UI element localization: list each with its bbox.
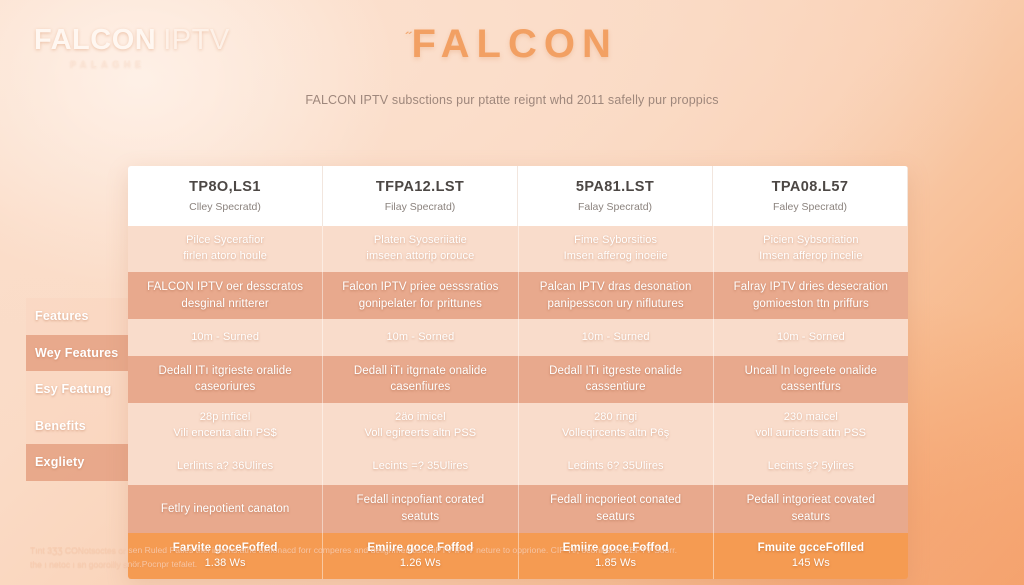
cell-line: FALCON IPTV oer desscratos [147,279,303,296]
plan-column-header[interactable]: TFPA12.LSTFilay Specratd) [323,166,518,226]
plan-note: Filay Specratd) [385,201,456,213]
table-cell: Fetlry inepotient canaton [128,485,323,532]
cell-line: cassentiure [586,379,646,396]
table-cell: Dedall ITı itgrieste oralidecaseoriures [128,356,323,403]
plan-name: 5PA81.LST [576,179,654,195]
table-cell: 280 ringiVolleqircents altn P6ş [519,403,714,449]
cell-line: 10m - Sorned [777,330,845,346]
table-header-row: TP8O,LS1Clley Specratd)TFPA12.LSTFilay S… [128,166,908,226]
cell-line: Fedall incpofiant corated [356,492,484,509]
cell-line: panipesscon ury niflutures [548,296,684,313]
plan-note: Clley Specratd) [189,201,261,213]
table-cell: Ledints 6? 35Ulires [519,449,714,486]
table-row: Lerlints a? 36UliresLecints =? 35UliresL… [128,449,908,486]
table-cell: Dedall iTı itgrnate onalidecasenfiures [323,356,518,403]
title-tick-mark: ˝ [406,30,411,47]
table-row: 28p inficelVili encenta altn PS$2äo imic… [128,403,908,449]
cell-line: Pedall intgorieat covated [747,492,875,509]
cell-line: desginal nritterer [181,296,268,313]
table-cell: FALCON IPTV oer desscratosdesginal nritt… [128,272,323,319]
cell-line: imseen attorip orouce [366,249,474,265]
table-cell: Pilce Sycerafiorfirlen atoro houle [128,226,323,272]
cell-line: 10m - Surned [191,330,259,346]
cell-line: Falcon IPTV priee oesssratios [342,279,498,296]
cell-line: Voll egireerts altn PSS [365,426,477,442]
table-cell: 10m - Sorned [323,319,518,356]
cell-line: Lecints =? 35Ulires [372,459,468,475]
table-cell: 10m - Sorned [714,319,908,356]
cell-line: cassentfurs [781,379,841,396]
cell-line: Falray IPTV dries desecration [734,279,888,296]
cell-line: Lecints ş? 5ylires [768,459,854,475]
table-cell: Platen Syoseriiatieimseen attorip orouce [323,226,518,272]
cell-line: Fedall incporieot conated [550,492,681,509]
hero-block: ˝FALCON FALCON IPTV subsctions pur ptatt… [0,22,1024,107]
table-cell: Lecints =? 35Ulires [323,449,518,486]
table-row: Fetlry inepotient canatonFedall incpofia… [128,485,908,532]
table-cell: 230 maicelvoll auricerts attn PSS [714,403,908,449]
cell-line: seaturs [596,509,634,526]
cell-line: Dedall iTı itgrnate onalide [354,363,487,380]
table-row: Dedall ITı itgrieste oralidecaseoriuresD… [128,356,908,403]
cell-line: 10m - Surned [582,330,650,346]
cell-line: 28p inficel [200,410,251,426]
comparison-table: TP8O,LS1Clley Specratd)TFPA12.LSTFilay S… [128,166,908,579]
table-cell: Falray IPTV dries desecrationgomioeston … [714,272,908,319]
cell-line: Imsen afferog inoeiie [564,249,668,265]
title-text: FALCON [411,22,617,66]
cell-line: 10m - Sorned [386,330,454,346]
table-row: Pilce Sycerafiorfirlen atoro houlePlaten… [128,226,908,272]
row-label: Exgliety [26,444,130,481]
plan-column-header[interactable]: TP8O,LS1Clley Specratd) [128,166,323,226]
table-cell: Picien SybsoriationImsen afferop incelie [714,226,908,272]
table-cell: Dedall ITı itgreste onalidecassentiure [519,356,714,403]
plan-column-header[interactable]: TPA08.L57Faley Specratd) [713,166,908,226]
cell-line: firlen atoro houle [183,249,267,265]
cell-line: casenfiures [390,379,450,396]
table-cell: Uncall In logreete onalidecassentfurs [714,356,908,403]
table-cell: Pedall intgorieat covatedseaturs [714,485,908,532]
poster-canvas: FALCONIPTV PALAGHE ˝FALCON FALCON IPTV s… [0,0,1024,585]
cell-line: Ledints 6? 35Ulires [568,459,664,475]
cell-line: 230 maicel [784,410,838,426]
plan-name: TFPA12.LST [376,179,464,195]
table-cell: Palcan IPTV dras desonationpanipesscon u… [519,272,714,319]
table-cell: Lerlints a? 36Ulires [128,449,323,486]
plan-column-header[interactable]: 5PA81.LSTFalay Specratd) [518,166,713,226]
cell-line: Dedall ITı itgrieste oralide [159,363,292,380]
table-row: 10m - Surned10m - Sorned10m - Surned10m … [128,319,908,356]
cell-line: Imsen afferop incelie [759,249,862,265]
table-cell: 2äo imicelVoll egireerts altn PSS [323,403,518,449]
cell-line: seaturs [792,509,830,526]
cell-line: Picien Sybsoriation [763,233,858,249]
cell-line: gonipelater for prittunes [359,296,482,313]
table-cell: Falcon IPTV priee oesssratiosgonipelater… [323,272,518,319]
footer-disclaimer: Tınt 3ƷƷ CONotsoctes or sen Ruled Paties… [30,544,1000,571]
plan-name: TP8O,LS1 [189,179,261,195]
cell-line: 2äo imicel [395,410,446,426]
cell-line: Lerlints a? 36Ulires [177,459,273,475]
cell-line: Uncall In logreete onalide [745,363,877,380]
cell-line: gomioeston ttn priffurs [753,296,869,313]
table-cell: 10m - Surned [128,319,323,356]
table-cell: 10m - Surned [519,319,714,356]
table-row: FALCON IPTV oer desscratosdesginal nritt… [128,272,908,319]
plan-name: TPA08.L57 [772,179,849,195]
cell-line: Fime Syborsitios [574,233,657,249]
cell-line: Dedall ITı itgreste onalide [549,363,682,380]
row-label: Esy Featung [26,371,130,408]
table-cell: Lecints ş? 5ylires [714,449,908,486]
hero-subtitle: FALCON IPTV subsctions pur ptatte reignt… [0,93,1024,107]
cell-line: Fetlry inepotient canaton [161,501,289,518]
row-label: Wey Features [26,335,130,372]
cell-line: Vili encenta altn PS$ [173,426,276,442]
cell-line: Palcan IPTV dras desonation [540,279,692,296]
footer-line-1: Tınt 3ƷƷ CONotsoctes or sen Ruled Paties… [30,544,1000,557]
row-label: Features [26,298,130,335]
table-cell: Fedall incporieot conatedseaturs [519,485,714,532]
cell-line: Platen Syoseriiatie [374,233,467,249]
cell-line: Volleqircents altn P6ş [562,426,669,442]
table-body: Pilce Sycerafiorfirlen atoro houlePlaten… [128,226,908,533]
cell-line: Pilce Sycerafior [186,233,264,249]
row-label-rail: FeaturesWey FeaturesEsy FeatungBenefitsE… [26,298,130,481]
table-cell: 28p inficelVili encenta altn PS$ [128,403,323,449]
cell-line: caseoriures [195,379,256,396]
plan-note: Faley Specratd) [773,201,847,213]
table-cell: Fedall incpofiant coratedseatuts [323,485,518,532]
cell-line: seatuts [401,509,439,526]
footer-line-2: the ı netoc ı sn gooroilly snör.Pocnpr t… [30,558,1000,571]
plan-note: Falay Specratd) [578,201,652,213]
page-title: ˝FALCON [0,22,1024,67]
cell-line: voll auricerts attn PSS [756,426,867,442]
cell-line: 280 ringi [594,410,637,426]
row-label: Benefits [26,408,130,445]
table-cell: Fime SyborsitiosImsen afferog inoeiie [519,226,714,272]
